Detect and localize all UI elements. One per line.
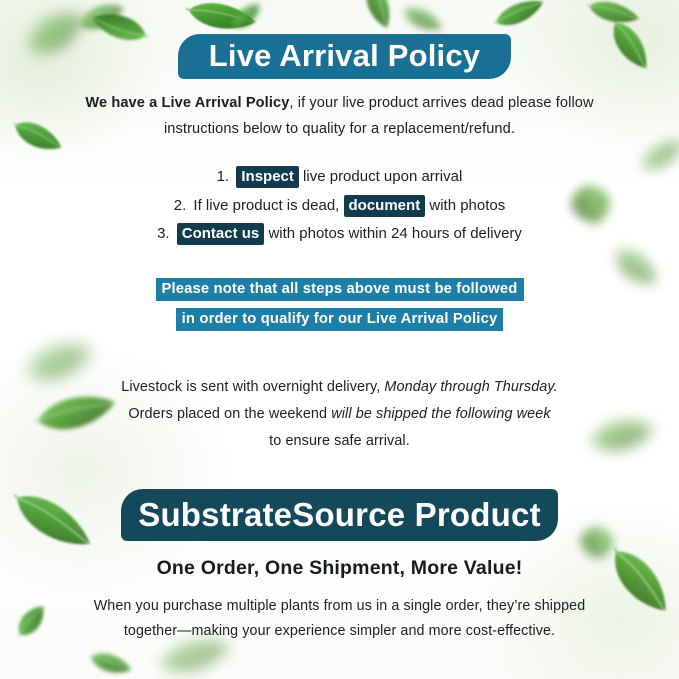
banner-bottom-title: SubstrateSource Product [138,498,541,531]
value-paragraph: When you purchase multiple plants from u… [0,594,679,644]
value-line-1: When you purchase multiple plants from u… [0,594,679,619]
shipping-line-2: Orders placed on the weekend will be shi… [0,401,679,428]
shipping-line-1-italic: Monday through Thursday. [384,379,557,395]
step-highlight-contact-us: Contact us [177,223,265,245]
intro-bold-phrase: We have a Live Arrival Policy [85,95,289,111]
live-arrival-policy-banner: Live Arrival Policy [178,34,511,79]
shipping-line-2-plain: Orders placed on the weekend [128,406,327,422]
intro-line-2: instructions below to quality for a repl… [0,116,679,142]
note-line-1: Please note that all steps above must be… [156,278,524,301]
step-highlight-document: document [344,195,426,217]
shipping-line-2-italic: will be shipped the following week [331,406,550,422]
shipping-line-3: to ensure safe arrival. [0,428,679,455]
list-item: 3. Contact us with photos within 24 hour… [0,220,679,249]
intro-line-1-rest: , if your live product arrives dead plea… [289,95,593,111]
value-heading: One Order, One Shipment, More Value! [0,557,679,580]
policy-infographic: Live Arrival Policy We have a Live Arriv… [0,0,679,679]
shipping-schedule-paragraph: Livestock is sent with overnight deliver… [0,374,679,455]
shipping-line-1-plain: Livestock is sent with overnight deliver… [121,379,380,395]
step-text: with photos within 24 hours of delivery [268,225,521,242]
step-text-pre: If live product is dead, [193,197,339,214]
intro-paragraph: We have a Live Arrival Policy, if your l… [0,90,679,142]
note-line-2: in order to qualify for our Live Arrival… [176,308,504,331]
policy-note-block: Please note that all steps above must be… [0,274,679,334]
banner-top-title: Live Arrival Policy [209,40,480,71]
value-line-2: together—making your experience simpler … [0,619,679,644]
step-text: with photos [429,197,505,214]
substratesource-product-banner: SubstrateSource Product [121,489,558,541]
step-number: 3. [157,225,170,242]
step-number: 1. [217,168,230,185]
shipping-line-1: Livestock is sent with overnight deliver… [0,374,679,401]
step-number: 2. [174,197,187,214]
list-item: 2. If live product is dead, document wit… [0,192,679,221]
intro-line-1: We have a Live Arrival Policy, if your l… [0,90,679,116]
step-text: live product upon arrival [303,168,462,185]
note-line-1-wrap: Please note that all steps above must be… [0,274,679,304]
policy-steps-list: 1. Inspect live product upon arrival 2. … [0,163,679,249]
list-item: 1. Inspect live product upon arrival [0,163,679,192]
note-line-2-wrap: in order to qualify for our Live Arrival… [0,304,679,334]
step-highlight-inspect: Inspect [236,166,299,188]
